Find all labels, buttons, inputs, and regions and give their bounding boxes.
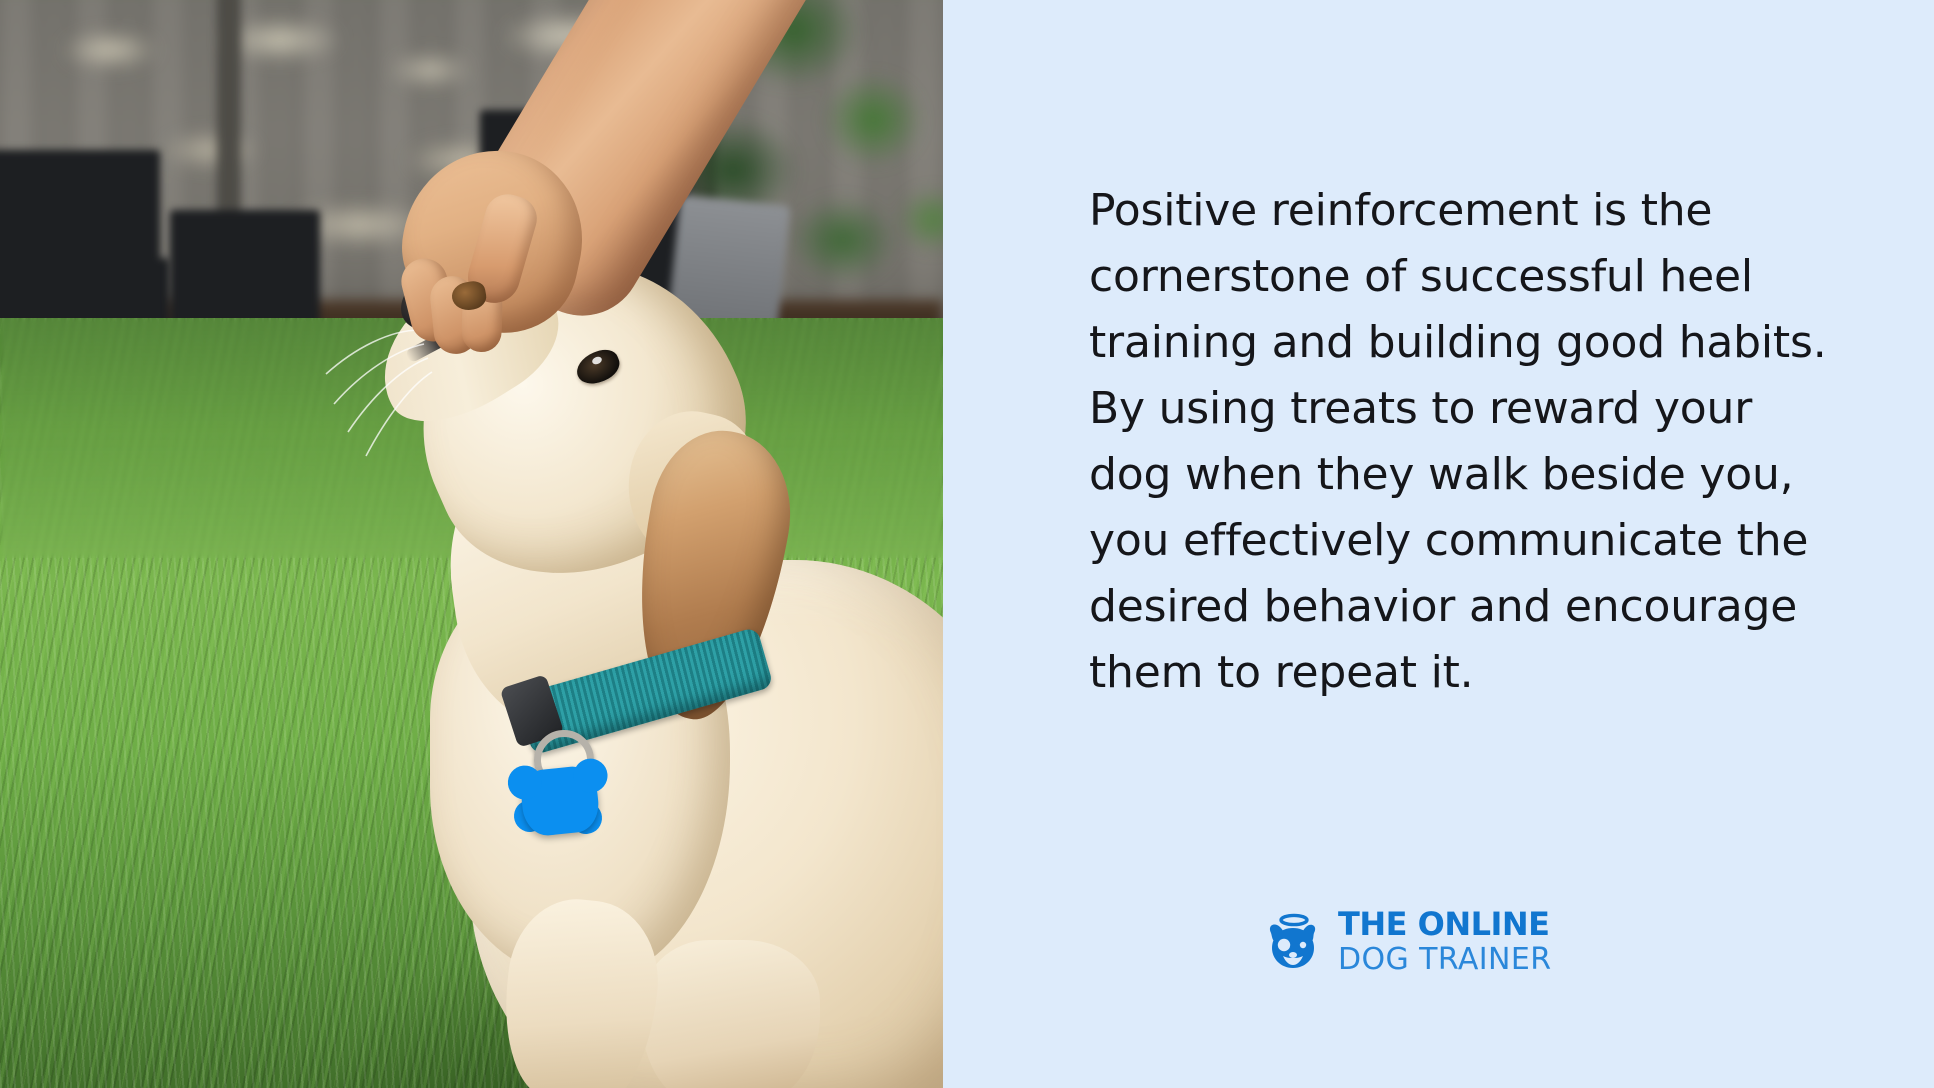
brand-line-2: DOG TRAINER — [1338, 945, 1551, 975]
dog-face-with-halo-icon — [1261, 911, 1325, 973]
hero-photo — [0, 0, 943, 1088]
brand-logo[interactable]: THE ONLINE DOG TRAINER — [1261, 908, 1551, 975]
body-paragraph: Positive reinforcement is the cornerston… — [1089, 178, 1829, 706]
brand-wordmark: THE ONLINE DOG TRAINER — [1338, 908, 1551, 975]
dog-id-tag — [519, 764, 601, 838]
brand-line-1: THE ONLINE — [1338, 908, 1551, 940]
text-panel: Positive reinforcement is the cornerston… — [943, 0, 1934, 1088]
infographic-canvas: Positive reinforcement is the cornerston… — [0, 0, 1934, 1088]
dog-rear-leg — [640, 940, 820, 1088]
